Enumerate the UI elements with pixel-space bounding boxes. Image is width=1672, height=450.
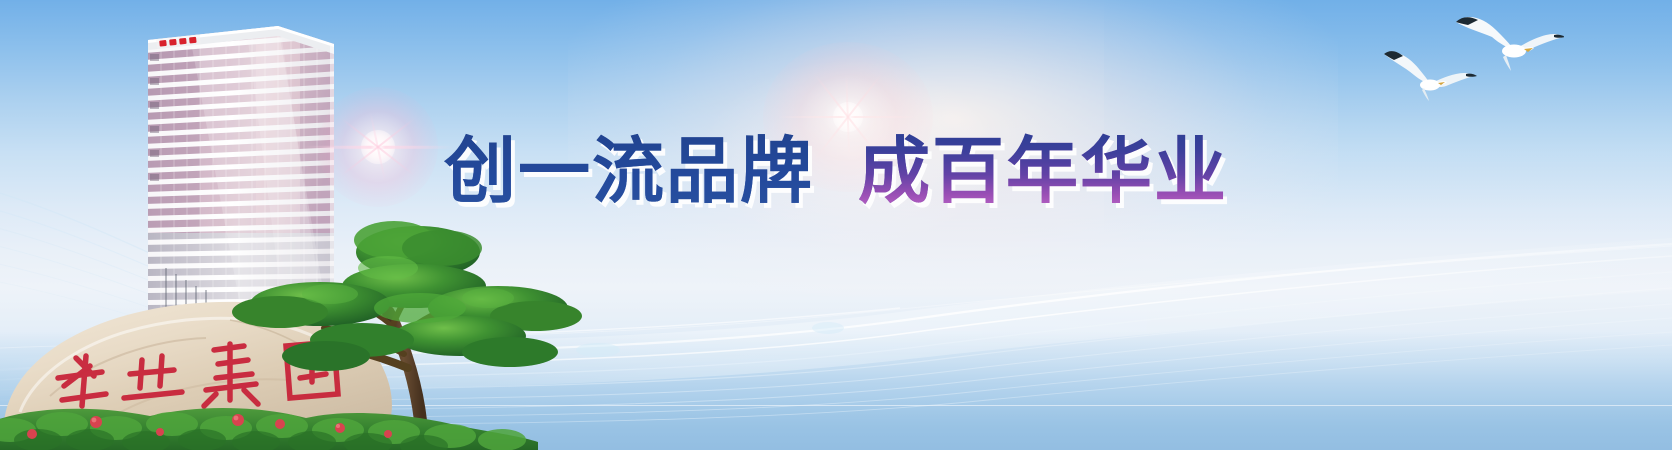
slogan-part-two: 成百年华业 (858, 129, 1228, 213)
slogan-face: 创一流品牌成百年华业 (444, 129, 1228, 213)
foreground-scenery (0, 190, 590, 450)
slogan-headline: 创一流品牌成百年华业 创一流品牌成百年华业 (0, 131, 1672, 211)
seagull-icon (1456, 17, 1564, 71)
company-hero-banner: 创一流品牌成百年华业 创一流品牌成百年华业 (0, 0, 1672, 450)
seagulls-group (1374, 8, 1564, 118)
hedge-shrubs (0, 408, 538, 450)
seagull-icon (1384, 51, 1477, 101)
slogan-part-one: 创一流品牌 (444, 129, 814, 213)
